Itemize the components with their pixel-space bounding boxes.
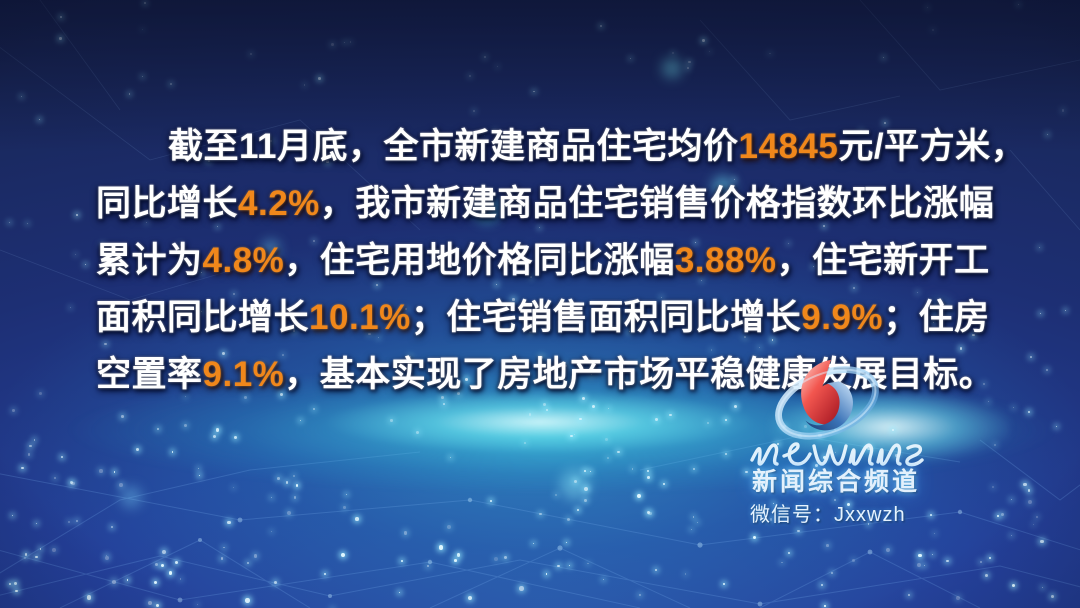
caption-highlight-value: 4.2% xyxy=(238,184,320,223)
caption-text: ，住宅新开工 xyxy=(777,241,990,280)
caption-text: 元/平方米， xyxy=(838,127,1026,166)
caption-text: 面积同比增长 xyxy=(96,298,309,337)
channel-name: 新闻综合频道 xyxy=(752,462,920,498)
caption-line-2: 同比增长4.2%，我市新建商品住宅销售价格指数环比涨幅 xyxy=(96,175,986,232)
caption-highlight-value: 10.1% xyxy=(309,298,411,337)
caption-text: 同比增长 xyxy=(96,184,238,223)
caption-text: 空置率 xyxy=(96,355,203,394)
caption-line-4: 面积同比增长10.1%；住宅销售面积同比增长9.9%；住房 xyxy=(96,289,986,346)
broadcast-screen: 截至11月底，全市新建商品住宅均价14845元/平方米，同比增长4.2%，我市新… xyxy=(0,0,1080,608)
caption-highlight-value: 9.9% xyxy=(801,298,883,337)
caption-highlight-value: 14845 xyxy=(739,127,839,166)
caption-text: ；住房 xyxy=(883,298,990,337)
caption-highlight-value: 9.1% xyxy=(203,355,285,394)
caption-text: ，我市新建商品住宅销售价格指数环比涨幅 xyxy=(320,184,995,223)
caption-highlight-value: 4.8% xyxy=(203,241,285,280)
caption-line-1: 截至11月底，全市新建商品住宅均价14845元/平方米， xyxy=(96,118,986,175)
caption-text: 累计为 xyxy=(96,241,203,280)
caption-text: ；住宅销售面积同比增长 xyxy=(411,298,802,337)
caption-text: 截至11月底，全市新建商品住宅均价 xyxy=(168,127,739,166)
channel-logo-group: 新闻综合频道 微信号：Jxxwzh xyxy=(742,352,942,537)
wechat-id-line: 微信号：Jxxwzh xyxy=(750,498,906,527)
caption-line-3: 累计为4.8%，住宅用地价格同比涨幅3.88%，住宅新开工 xyxy=(96,232,986,289)
caption-text: ，住宅用地价格同比涨幅 xyxy=(284,241,675,280)
caption-highlight-value: 3.88% xyxy=(675,241,777,280)
